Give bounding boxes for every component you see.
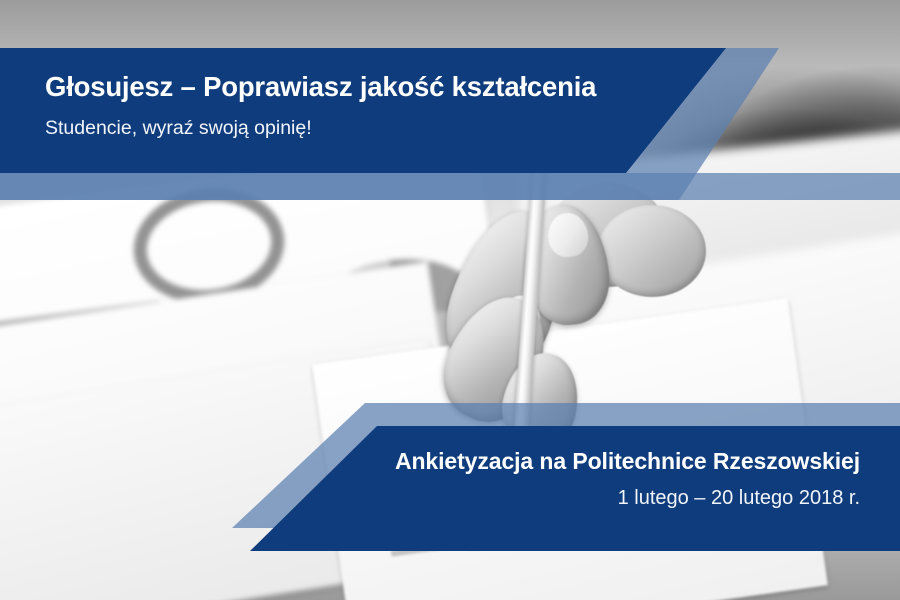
bottom-banner-text: Ankietyzacja na Politechnice Rzeszowskie… (395, 448, 860, 510)
top-banner-text: Głosujesz – Poprawiasz jakość kształceni… (45, 72, 665, 140)
event-title: Ankietyzacja na Politechnice Rzeszowskie… (395, 448, 860, 474)
promo-poster: Głosujesz – Poprawiasz jakość kształceni… (0, 0, 900, 600)
event-date-range: 1 lutego – 20 lutego 2018 r. (395, 486, 860, 510)
poster-subheadline: Studencie, wyraź swoją opinię! (45, 117, 665, 140)
poster-headline: Głosujesz – Poprawiasz jakość kształceni… (45, 72, 665, 103)
top-banner-accent-band (0, 173, 900, 200)
hand-knuckle (598, 205, 706, 297)
hand-with-pen (430, 175, 760, 435)
